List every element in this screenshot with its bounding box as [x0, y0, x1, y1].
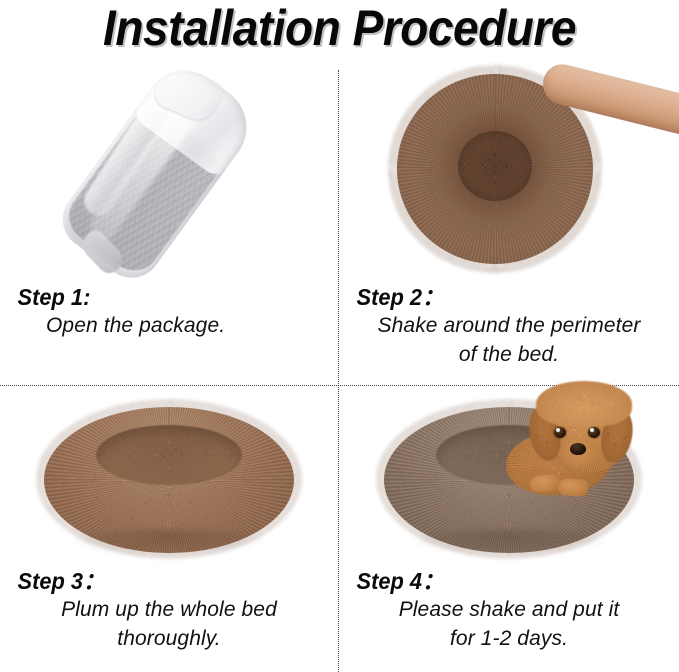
step-1-caption: Step 1: Open the package.	[0, 284, 338, 339]
step-1-label: Step 1:	[8, 284, 314, 310]
infographic-page: Installation Procedure Step 1: Open the …	[0, 0, 679, 672]
step-2-label: Step 2：	[347, 284, 655, 310]
step-4-illustration	[339, 386, 679, 564]
step-panel-3: Step 3： Plum up the whole bed thoroughly…	[0, 386, 338, 672]
page-title: Installation Procedure	[27, 0, 652, 56]
step-4-body-line-1: Please shake and put it	[347, 594, 671, 623]
step-2-body-line-1: Shake around the perimeter	[347, 310, 671, 339]
puppy-icon	[502, 387, 636, 503]
step-3-label: Step 3：	[8, 568, 314, 594]
step-3-body-line-2: thoroughly.	[8, 623, 330, 652]
step-panel-4: Step 4： Please shake and put it for 1-2 …	[339, 386, 679, 672]
pet-bed-with-puppy-icon	[384, 399, 634, 557]
step-panel-2: Step 2： Shake around the perimeter of th…	[339, 62, 679, 385]
vacuum-package-icon	[51, 54, 263, 289]
step-1-illustration	[0, 62, 338, 277]
pet-bed-perspective-icon	[44, 399, 294, 557]
step-3-body-line-1: Plum up the whole bed	[8, 594, 330, 623]
step-1-body-line-1: Open the package.	[8, 310, 330, 339]
step-3-illustration	[0, 386, 338, 564]
step-4-caption: Step 4： Please shake and put it for 1-2 …	[339, 568, 679, 652]
step-2-body-line-2: of the bed.	[347, 339, 671, 368]
step-panel-1: Step 1: Open the package.	[0, 62, 338, 385]
step-4-body-line-2: for 1-2 days.	[347, 623, 671, 652]
step-4-label: Step 4：	[347, 568, 655, 594]
step-3-caption: Step 3： Plum up the whole bed thoroughly…	[0, 568, 338, 652]
step-2-illustration	[339, 62, 679, 277]
step-2-caption: Step 2： Shake around the perimeter of th…	[339, 284, 679, 368]
